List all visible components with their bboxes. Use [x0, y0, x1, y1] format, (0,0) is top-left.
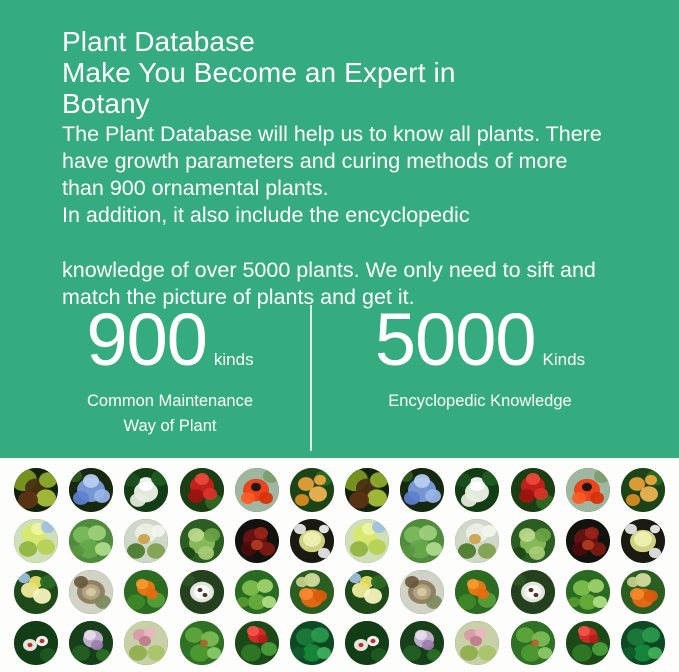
- stat-caption-right: Encyclopedic Knowledge: [330, 389, 630, 414]
- plant-thumbnail-orange-crown-imperial[interactable]: [621, 570, 665, 614]
- plant-database-infographic: Plant Database Make You Become an Expert…: [0, 0, 679, 672]
- plant-thumbnail-round-green-succulent[interactable]: [69, 519, 113, 563]
- plant-thumbnail-coleus-variegated-leaves[interactable]: [14, 468, 58, 512]
- plant-thumbnail-orange-tubular-flowers[interactable]: [621, 468, 665, 512]
- plant-thumbnail-coleus-variegated-leaves[interactable]: [345, 468, 389, 512]
- plant-thumbnail-red-gloriosa-lily[interactable]: [511, 468, 555, 512]
- plant-thumbnail-yellow-euphorbia-spray[interactable]: [14, 519, 58, 563]
- plant-thumbnail-blue-agapanthus-flower[interactable]: [69, 468, 113, 512]
- plant-thumbnail-green-cabbage-leaves[interactable]: [180, 519, 224, 563]
- gallery-row-4: [8, 621, 671, 671]
- plant-thumbnail-round-green-succulent[interactable]: [400, 519, 444, 563]
- plant-thumbnail-dark-red-bromeliad[interactable]: [235, 519, 279, 563]
- plant-thumbnail-pink-spike-flowers[interactable]: [455, 621, 499, 665]
- stat-block-common-maintenance: 900 kinds Common Maintenance Way of Plan…: [30, 303, 310, 439]
- plant-thumbnail-orange-poppy-flower[interactable]: [124, 570, 168, 614]
- plant-thumbnail-orange-sturt-desert-pea[interactable]: [566, 468, 610, 512]
- plant-thumbnail-brown-passion-flower[interactable]: [69, 570, 113, 614]
- plant-thumbnail-purple-striped-bud[interactable]: [69, 621, 113, 665]
- stats-row: 900 kinds Common Maintenance Way of Plan…: [0, 303, 679, 453]
- plant-thumbnail-brown-passion-flower[interactable]: [400, 570, 444, 614]
- plant-thumbnail-white-edelweiss-cluster[interactable]: [124, 519, 168, 563]
- plant-thumbnail-orange-sturt-desert-pea[interactable]: [235, 468, 279, 512]
- plant-thumbnail-green-cabbage-leaves[interactable]: [511, 519, 555, 563]
- plant-thumbnail-orange-poppy-flower[interactable]: [455, 570, 499, 614]
- plant-thumbnail-white-orchid-spray[interactable]: [345, 621, 389, 665]
- gallery-row-2: [8, 519, 671, 569]
- hero-text-block: Plant Database Make You Become an Expert…: [62, 26, 632, 311]
- plant-thumbnail-green-mossy-plant[interactable]: [180, 621, 224, 665]
- plant-thumbnail-deep-green-foliage[interactable]: [290, 621, 334, 665]
- stat-unit-left: kinds: [214, 351, 254, 368]
- stat-unit-right: Kinds: [543, 351, 586, 368]
- plant-thumbnail-white-edelweiss-cluster[interactable]: [455, 519, 499, 563]
- plant-thumbnail-white-trillium-flower[interactable]: [455, 468, 499, 512]
- plant-thumbnail-green-mossy-plant[interactable]: [511, 621, 555, 665]
- plant-thumbnail-white-spotted-flower[interactable]: [511, 570, 555, 614]
- plant-thumbnail-red-ginger-flower[interactable]: [566, 621, 610, 665]
- plant-thumbnail-green-rosette-plant[interactable]: [566, 570, 610, 614]
- stat-number-900: 900: [86, 303, 206, 377]
- hero-paragraph-1: The Plant Database will help us to know …: [62, 121, 632, 229]
- plant-thumbnail-yellow-euphorbia-spray[interactable]: [345, 519, 389, 563]
- stat-caption-left: Common Maintenance Way of Plant: [30, 389, 310, 439]
- plant-thumbnail-pale-yellow-round-bloom[interactable]: [621, 519, 665, 563]
- plant-thumbnail-yellow-plumeria-flowers[interactable]: [345, 570, 389, 614]
- plant-thumbnail-green-rosette-plant[interactable]: [235, 570, 279, 614]
- plant-thumbnail-white-spotted-flower[interactable]: [180, 570, 224, 614]
- plant-thumbnail-white-trillium-flower[interactable]: [124, 468, 168, 512]
- stat-number-row: 5000 Kinds: [330, 303, 630, 389]
- plant-thumbnail-dark-red-bromeliad[interactable]: [566, 519, 610, 563]
- plant-thumbnail-purple-striped-bud[interactable]: [400, 621, 444, 665]
- plant-thumbnail-orange-crown-imperial[interactable]: [290, 570, 334, 614]
- plant-thumbnail-blue-agapanthus-flower[interactable]: [400, 468, 444, 512]
- plant-thumbnail-red-ginger-flower[interactable]: [235, 621, 279, 665]
- plant-thumbnail-white-orchid-spray[interactable]: [14, 621, 58, 665]
- gallery-row-3: [8, 570, 671, 620]
- plant-thumbnail-orange-tubular-flowers[interactable]: [290, 468, 334, 512]
- hero-panel: Plant Database Make You Become an Expert…: [0, 0, 679, 458]
- page-title: Plant Database Make You Become an Expert…: [62, 26, 632, 119]
- stats-divider: [310, 305, 312, 451]
- plant-thumbnail-pale-yellow-round-bloom[interactable]: [290, 519, 334, 563]
- plant-thumbnail-gallery: [0, 458, 679, 672]
- stat-number-row: 900 kinds: [30, 303, 310, 389]
- plant-thumbnail-deep-green-foliage[interactable]: [621, 621, 665, 665]
- plant-thumbnail-yellow-plumeria-flowers[interactable]: [14, 570, 58, 614]
- stat-number-5000: 5000: [375, 303, 536, 377]
- gallery-row-1: [8, 468, 671, 518]
- plant-thumbnail-red-gloriosa-lily[interactable]: [180, 468, 224, 512]
- plant-thumbnail-pink-spike-flowers[interactable]: [124, 621, 168, 665]
- stat-block-encyclopedic-knowledge: 5000 Kinds Encyclopedic Knowledge: [330, 303, 630, 414]
